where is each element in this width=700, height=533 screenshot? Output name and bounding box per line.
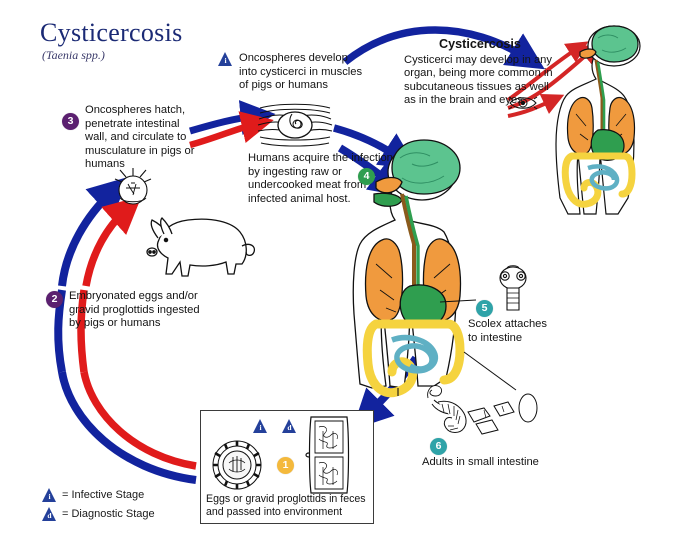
step-6-label: Adults in small intestine <box>422 456 562 470</box>
feces-stage-box: i d 1 <box>200 410 374 524</box>
diagnostic-stage-icon: d <box>282 419 297 433</box>
legend: i = Infective Stage d = Diagnostic Stage <box>42 488 155 526</box>
legend-item-infective: i = Infective Stage <box>42 488 155 502</box>
arrow-step2-to-step3-blue <box>62 192 112 286</box>
infective-stage-icon: i <box>253 419 268 433</box>
arrow-step2-to-step3-red <box>86 210 126 286</box>
infective-stage-icon: i <box>218 52 233 66</box>
step-1-label: Eggs or gravid proglottids in feces and … <box>206 493 370 519</box>
step-2-label: Embryonated eggs and/or gravid proglotti… <box>69 290 207 331</box>
taenia-egg-icon <box>211 439 263 491</box>
cysticercus-in-muscle-icon <box>258 100 332 148</box>
step-3-label: Oncospheres hatch, penetrate intestinal … <box>85 104 197 172</box>
gravid-proglottid-icon <box>303 415 355 497</box>
arrow-step3-to-muscle-red <box>190 124 256 145</box>
arrow-feces-to-ingestion-blue-tail <box>62 372 196 480</box>
step-3-number: 3 <box>62 113 79 130</box>
step-2: 2 Embryonated eggs and/or gravid proglot… <box>46 290 207 331</box>
human-figure-cysticerci-dissemination <box>536 22 692 218</box>
eye-with-cysticercus-icon <box>508 94 538 112</box>
step-3: 3 Oncospheres hatch, penetrate intestina… <box>62 104 197 172</box>
arrow-step3-to-muscle-blue <box>190 116 256 131</box>
legend-diagnostic-text: = Diagnostic Stage <box>62 508 155 520</box>
step-6-number: 6 <box>430 438 447 455</box>
oncosphere-icon <box>112 166 154 208</box>
step-2-number: 2 <box>46 291 63 308</box>
page-subtitle: (Taenia spp.) <box>42 48 105 63</box>
page-title: Cysticercosis <box>40 18 183 48</box>
infective-stage-icon: i <box>42 488 57 502</box>
adult-tapeworm-segments <box>424 382 554 438</box>
callout-oncospheres-develop: i Oncospheres develop into cysticerci in… <box>218 52 367 93</box>
pig-line-drawing <box>128 212 262 284</box>
diagnostic-stage-icon: d <box>42 507 57 521</box>
step-1-number: 1 <box>277 457 294 474</box>
cysticercosis-heading: Cysticercosis <box>404 38 556 52</box>
arrow-feces-to-ingestion-red-tail <box>84 372 196 466</box>
legend-item-diagnostic: d = Diagnostic Stage <box>42 507 155 521</box>
callout-oncospheres-text: Oncospheres develop into cysticerci in m… <box>239 52 367 93</box>
legend-infective-text: = Infective Stage <box>62 489 144 501</box>
